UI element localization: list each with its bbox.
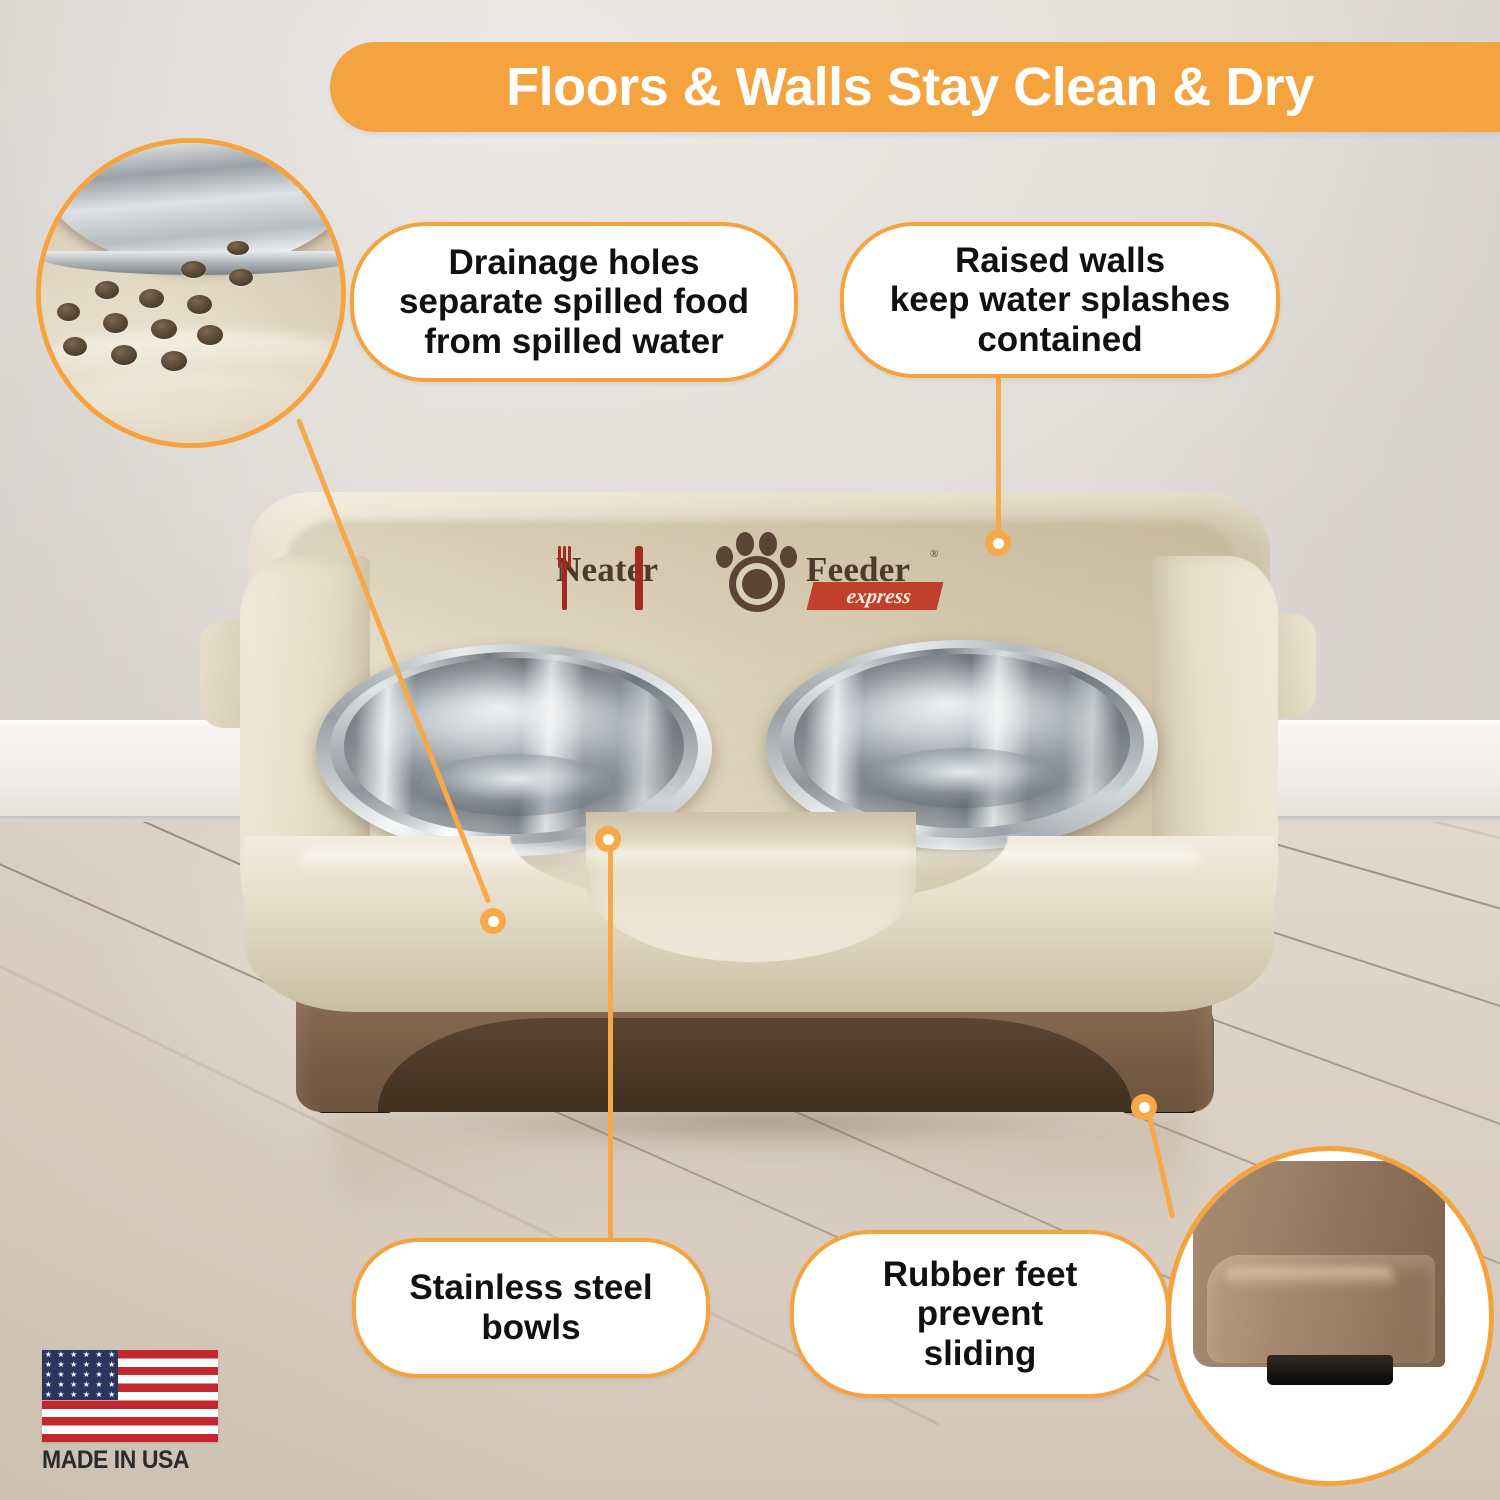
paw-print-icon xyxy=(712,530,798,616)
leader-dot-walls xyxy=(985,530,1011,556)
made-in-usa-badge: ★★★★★★ ★★★★★★ ★★★★★★ ★★★★★★ ★★★★★★ MADE … xyxy=(42,1350,218,1470)
leader-line-bowls xyxy=(608,840,613,1240)
callout-rubber-feet: Rubber feet prevent sliding xyxy=(790,1230,1170,1398)
product-infographic: Neater Feeder ® express xyxy=(0,0,1500,1500)
callout-drainage-line-3: from spilled water xyxy=(399,322,749,362)
callout-stainless-bowls: Stainless steel bowls xyxy=(352,1238,710,1378)
floor-reflection xyxy=(330,1110,1190,1230)
usa-flag-icon: ★★★★★★ ★★★★★★ ★★★★★★ ★★★★★★ ★★★★★★ xyxy=(42,1350,218,1442)
callout-feet-line-3: sliding xyxy=(883,1334,1077,1374)
leader-dot-drainage xyxy=(480,908,506,934)
drainage-holes-closeup xyxy=(36,138,346,448)
closeup-surface-ridge-2 xyxy=(36,375,346,445)
callout-walls-line-2: keep water splashes xyxy=(890,280,1230,320)
registered-mark: ® xyxy=(930,548,938,560)
brand-logo: Neater Feeder ® express xyxy=(556,530,950,616)
callout-drainage-holes: Drainage holes separate spilled food fro… xyxy=(350,222,798,382)
callout-feet-line-1: Rubber feet xyxy=(883,1255,1077,1295)
closeup-rubber-pad xyxy=(1267,1355,1393,1385)
callout-drainage-line-2: separate spilled food xyxy=(399,282,749,322)
knife-icon xyxy=(635,546,643,610)
header-banner: Floors & Walls Stay Clean & Dry xyxy=(330,42,1500,132)
made-in-usa-label: MADE IN USA xyxy=(42,1446,204,1475)
callout-feet-line-2: prevent xyxy=(883,1294,1077,1334)
callout-bowls-line-1: Stainless steel xyxy=(409,1268,652,1308)
base-arch-opening xyxy=(378,1018,1132,1112)
callout-raised-walls: Raised walls keep water splashes contain… xyxy=(840,222,1280,378)
closeup-leg-highlight xyxy=(1225,1267,1395,1289)
callout-walls-line-1: Raised walls xyxy=(890,241,1230,281)
leader-dot-bowls xyxy=(595,826,621,852)
tray-lip-highlight xyxy=(300,848,1200,874)
callout-drainage-line-1: Drainage holes xyxy=(399,243,749,283)
sub-brand-label: express xyxy=(812,582,946,610)
callout-bowls-line-2: bowls xyxy=(409,1308,652,1348)
flag-stars: ★★★★★★ ★★★★★★ ★★★★★★ ★★★★★★ ★★★★★★ xyxy=(42,1350,118,1400)
leader-dot-feet xyxy=(1131,1094,1157,1120)
leader-line-walls xyxy=(996,370,1001,546)
bowl-base-right xyxy=(868,748,1058,808)
header-title: Floors & Walls Stay Clean & Dry xyxy=(506,56,1324,118)
callout-walls-line-3: contained xyxy=(890,320,1230,360)
rubber-foot-closeup xyxy=(1166,1146,1494,1486)
fork-icon xyxy=(558,546,571,610)
